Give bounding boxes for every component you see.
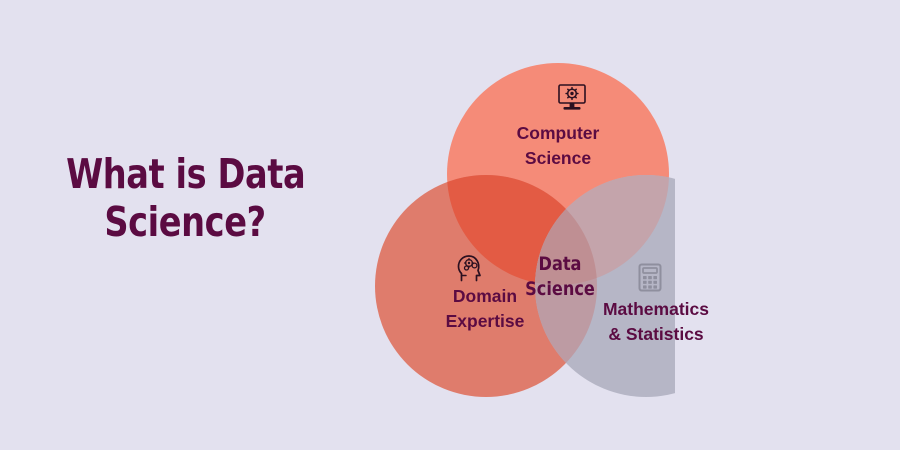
page-title-line-2: Science? <box>66 198 304 246</box>
page-title: What is Data Science? <box>40 150 330 247</box>
infographic-canvas: What is Data Science? <box>0 0 900 450</box>
page-title-line-1: What is Data <box>66 150 304 198</box>
venn-diagram <box>355 45 675 415</box>
